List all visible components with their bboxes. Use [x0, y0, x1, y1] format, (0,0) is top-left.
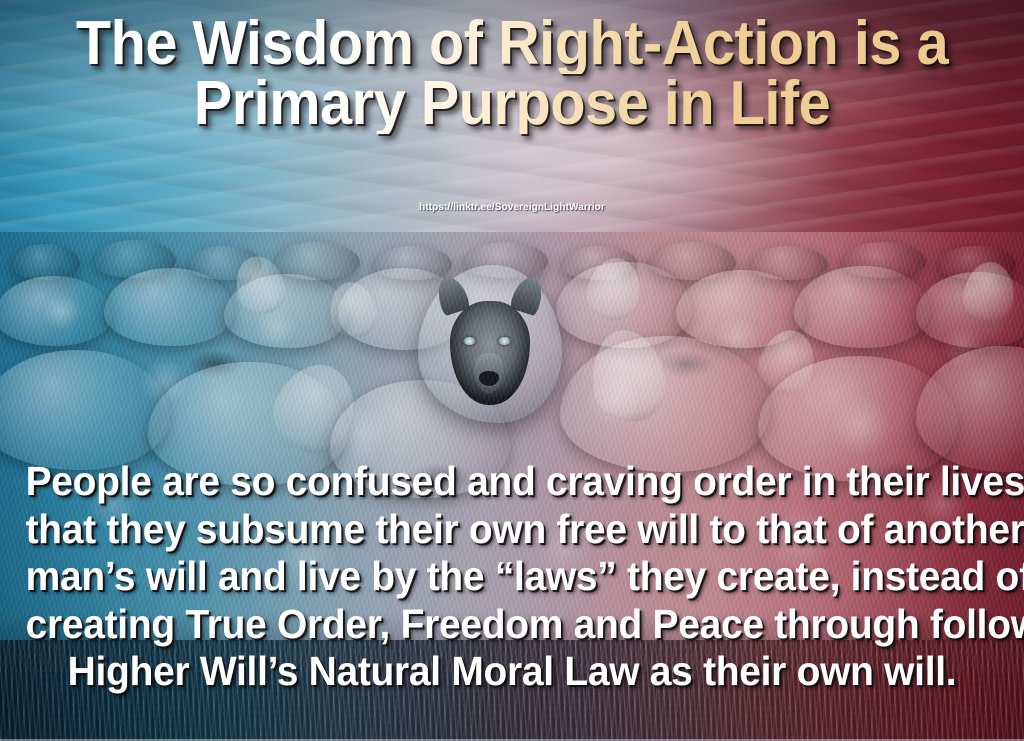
headline-line-1: The Wisdom of Right-Action is a [36, 14, 988, 74]
headline: The Wisdom of Right-Action is a Primary … [36, 14, 988, 134]
body-line-3: man’s will and live by the “laws” they c… [26, 553, 999, 601]
body-line-5: Higher Will’s Natural Moral Law as their… [26, 648, 999, 696]
watermark-url[interactable]: https://linktr.ee/SovereignLightWarrior [0, 202, 1024, 213]
body-copy: People are so confused and craving order… [26, 458, 999, 696]
meme-poster: The Wisdom of Right-Action is a Primary … [0, 0, 1024, 741]
headline-line-2: Primary Purpose in Life [36, 74, 988, 134]
body-line-2: that they subsume their own free will to… [26, 506, 999, 554]
body-line-1: People are so confused and craving order… [26, 458, 999, 506]
body-line-4: creating True Order, Freedom and Peace t… [26, 601, 999, 649]
